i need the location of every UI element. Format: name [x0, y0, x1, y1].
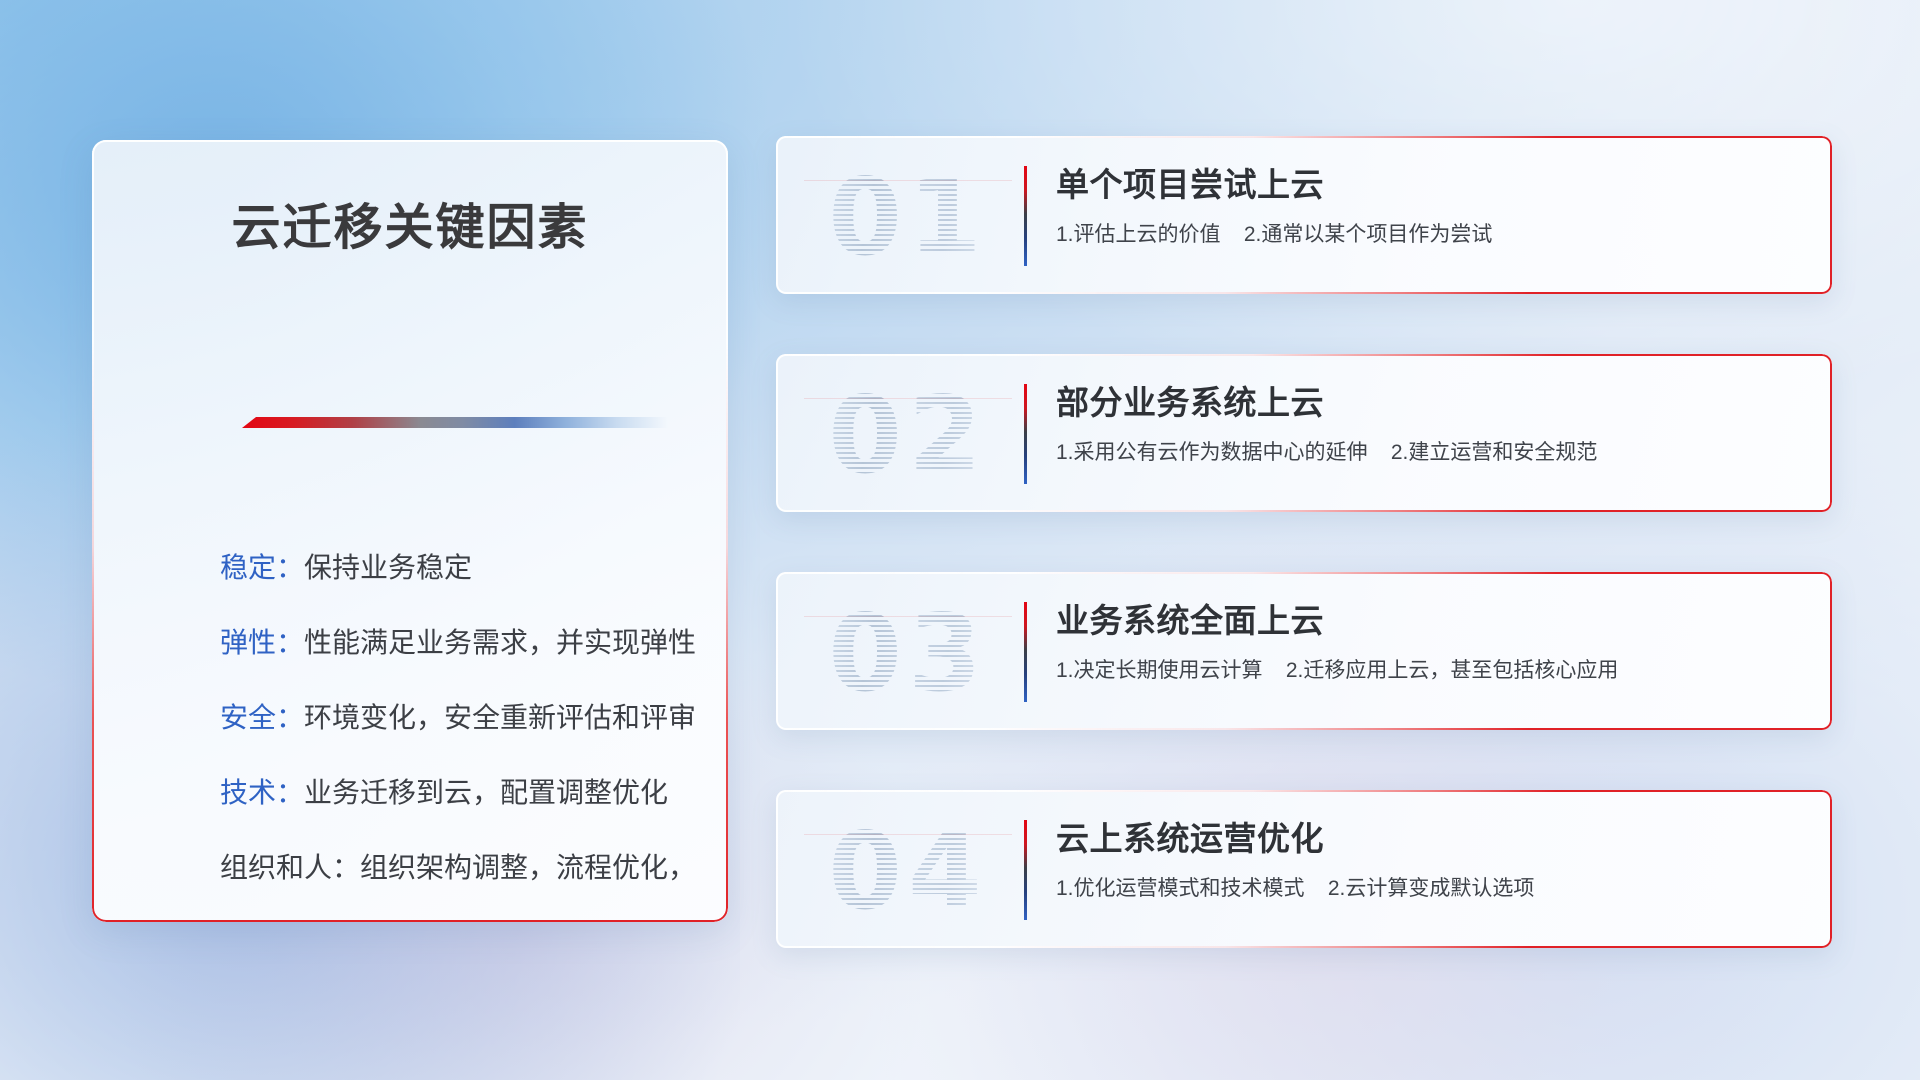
- stage-card[interactable]: 03 业务系统全面上云 1.决定长期使用云计算 2.迁移应用上云，甚至包括核心应…: [776, 572, 1832, 730]
- list-item: 人员技能培训: [220, 905, 672, 922]
- stage-number: 03: [804, 590, 1012, 716]
- stage-content: 云上系统运营优化 1.优化运营模式和技术模式 2.云计算变成默认选项: [1056, 816, 1802, 904]
- key-factors-list: 稳定：保持业务稳定 弹性：性能满足业务需求，并实现弹性 安全：环境变化，安全重新…: [220, 530, 672, 922]
- list-item: 弹性：性能满足业务需求，并实现弹性: [220, 605, 672, 680]
- factor-value: 性能满足业务需求，并实现弹性: [304, 627, 696, 658]
- stage-title: 部分业务系统上云: [1056, 380, 1802, 426]
- stage-number-glyph: 04: [828, 810, 988, 933]
- migration-stages-list: 01 单个项目尝试上云 1.评估上云的价值 2.通常以某个项目作为尝试 02 部…: [776, 136, 1832, 948]
- stage-description: 1.评估上云的价值 2.通常以某个项目作为尝试: [1056, 220, 1802, 250]
- stage-number-glyph: 02: [828, 374, 988, 497]
- panel-title: 云迁移关键因素: [92, 188, 728, 259]
- stage-accent-bar: [1024, 820, 1027, 920]
- stage-card[interactable]: 01 单个项目尝试上云 1.评估上云的价值 2.通常以某个项目作为尝试: [776, 136, 1832, 294]
- stage-title: 业务系统全面上云: [1056, 598, 1802, 644]
- list-item: 组织和人：组织架构调整，流程优化，: [220, 830, 672, 905]
- stage-accent-bar: [1024, 384, 1027, 484]
- stage-description: 1.决定长期使用云计算 2.迁移应用上云，甚至包括核心应用: [1056, 656, 1802, 686]
- stage-number: 02: [804, 372, 1012, 498]
- stage-title: 单个项目尝试上云: [1056, 162, 1802, 208]
- list-item: 安全：环境变化，安全重新评估和评审: [220, 680, 672, 755]
- title-underline-gradient: [242, 417, 668, 428]
- stage-number-glyph: 03: [828, 592, 988, 715]
- stage-content: 业务系统全面上云 1.决定长期使用云计算 2.迁移应用上云，甚至包括核心应用: [1056, 598, 1802, 686]
- factor-label: 安全：: [220, 702, 304, 733]
- factor-value: 环境变化，安全重新评估和评审: [304, 702, 696, 733]
- key-factors-panel: 云迁移关键因素 稳定：保持业务稳定 弹性：性能满足业务需求，并实现弹性 安全：环…: [92, 140, 728, 922]
- stage-card[interactable]: 04 云上系统运营优化 1.优化运营模式和技术模式 2.云计算变成默认选项: [776, 790, 1832, 948]
- factor-label: 弹性：: [220, 627, 304, 658]
- factor-label: 稳定：: [220, 552, 304, 583]
- stage-number: 04: [804, 808, 1012, 934]
- stage-description: 1.采用公有云作为数据中心的延伸 2.建立运营和安全规范: [1056, 438, 1802, 468]
- list-item: 稳定：保持业务稳定: [220, 530, 672, 605]
- stage-card[interactable]: 02 部分业务系统上云 1.采用公有云作为数据中心的延伸 2.建立运营和安全规范: [776, 354, 1832, 512]
- stage-content: 部分业务系统上云 1.采用公有云作为数据中心的延伸 2.建立运营和安全规范: [1056, 380, 1802, 468]
- factor-label: 组织和人：: [220, 852, 360, 883]
- factor-value: 保持业务稳定: [304, 552, 472, 583]
- list-item: 技术：业务迁移到云，配置调整优化: [220, 755, 672, 830]
- stage-title: 云上系统运营优化: [1056, 816, 1802, 862]
- factor-value: 业务迁移到云，配置调整优化: [304, 777, 668, 808]
- stage-number-glyph: 01: [828, 156, 988, 279]
- factor-value: 组织架构调整，流程优化，: [360, 852, 696, 883]
- stage-content: 单个项目尝试上云 1.评估上云的价值 2.通常以某个项目作为尝试: [1056, 162, 1802, 250]
- stage-accent-bar: [1024, 602, 1027, 702]
- stage-description: 1.优化运营模式和技术模式 2.云计算变成默认选项: [1056, 874, 1802, 904]
- stage-accent-bar: [1024, 166, 1027, 266]
- slide-stage: 云迁移关键因素 稳定：保持业务稳定 弹性：性能满足业务需求，并实现弹性 安全：环…: [0, 0, 1920, 1080]
- stage-number: 01: [804, 154, 1012, 280]
- factor-label: 技术：: [220, 777, 304, 808]
